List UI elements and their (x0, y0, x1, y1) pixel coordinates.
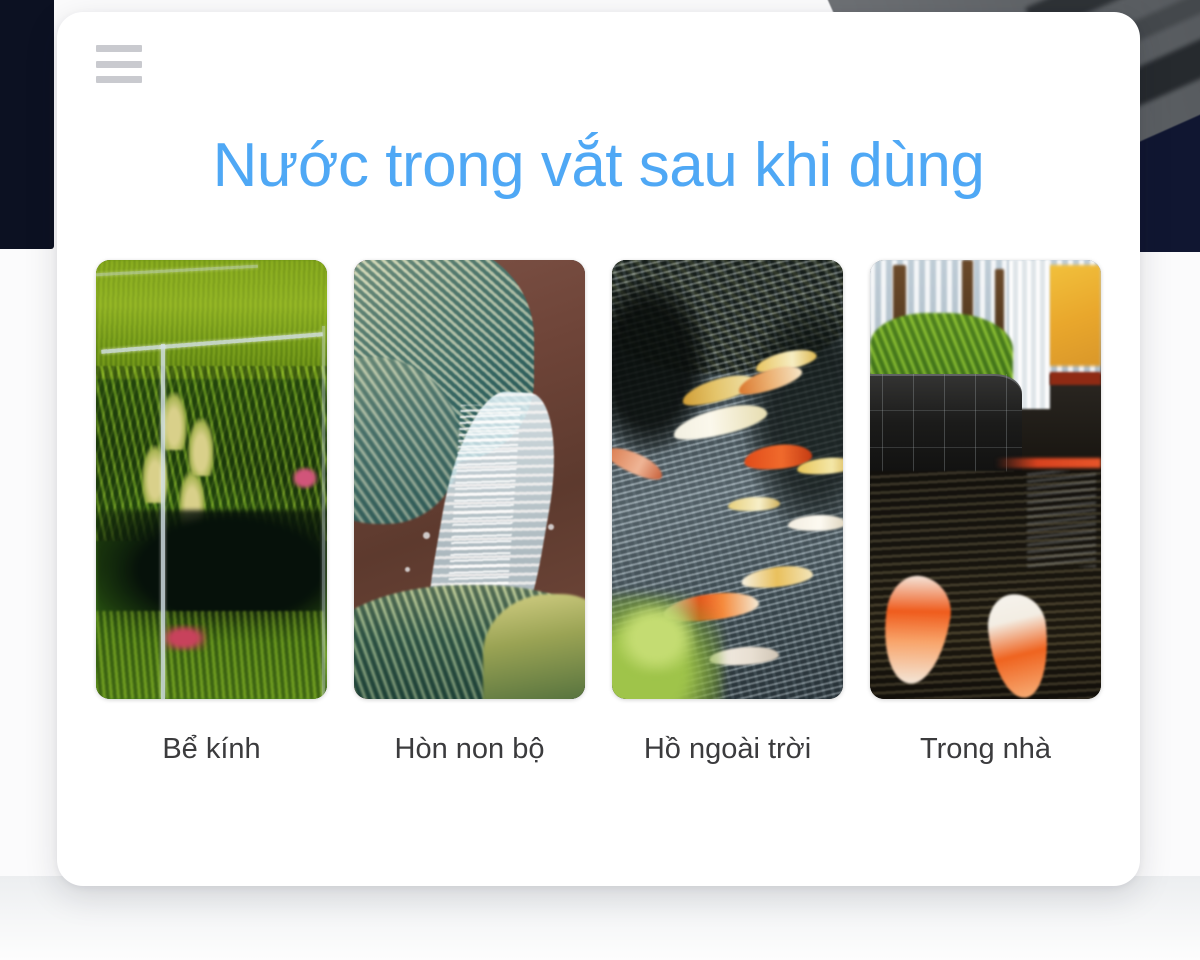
hamburger-bar (96, 76, 142, 83)
gallery-item-outdoor-pond[interactable]: Hồ ngoài trời (612, 260, 843, 766)
outdoor-pond-illustration (612, 260, 843, 699)
hamburger-menu-icon[interactable] (96, 45, 142, 83)
water-droplet (548, 524, 554, 530)
gallery-item-label: Hồ ngoài trời (644, 733, 811, 766)
water-reflection-light (1027, 471, 1096, 568)
top-bar (57, 12, 1140, 116)
glass-side-edge (322, 326, 325, 699)
pond-foliage (617, 603, 696, 673)
aquarium-glass-edges (96, 260, 327, 699)
indoor-pond-illustration (870, 260, 1101, 699)
gallery-item-glass-aquarium[interactable]: Bể kính (96, 260, 327, 766)
thumbnail-glass-aquarium[interactable] (96, 260, 327, 699)
gallery-item-label: Bể kính (162, 733, 260, 766)
page-title: Nước trong vắt sau khi dùng (57, 132, 1140, 200)
wall-stripe-red (1050, 372, 1101, 385)
thumbnail-rock-fountain[interactable] (354, 260, 585, 699)
glass-rim (101, 333, 322, 354)
water-reflection-red (995, 458, 1101, 469)
device-bezel-left (0, 0, 54, 249)
glass-rim (96, 265, 258, 276)
thumbnail-outdoor-pond[interactable] (612, 260, 843, 699)
thumbnail-indoor-pond[interactable] (870, 260, 1101, 699)
app-page: Nước trong vắt sau khi dùng (57, 12, 1140, 886)
hamburger-bar (96, 45, 142, 52)
backdrop-bottom-band (0, 876, 1200, 960)
gallery-item-label: Hòn non bộ (395, 733, 545, 766)
image-gallery: Bể kính Hòn non bộ (57, 260, 1140, 766)
gallery-item-indoor-pond[interactable]: Trong nhà (870, 260, 1101, 766)
glass-corner-edge (161, 344, 165, 700)
gallery-item-rock-fountain[interactable]: Hòn non bộ (354, 260, 585, 766)
aquarium-illustration (96, 260, 327, 699)
fountain-illustration (354, 260, 585, 699)
gallery-item-label: Trong nhà (920, 733, 1051, 766)
hamburger-bar (96, 61, 142, 68)
